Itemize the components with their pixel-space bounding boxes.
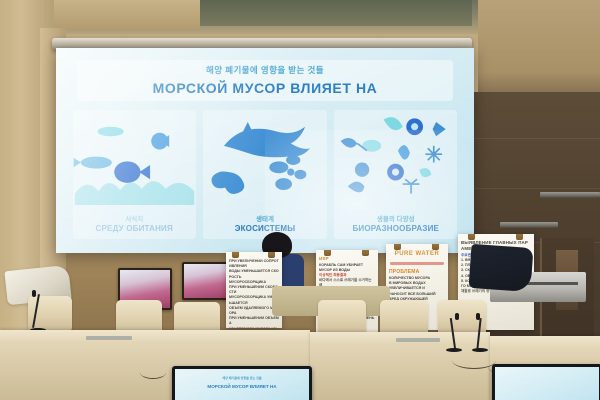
presentation-slide: 해양 폐기물에 영향을 받는 것들 МОРСКОЙ МУСОР ВЛИЯЕТ Н… [56, 48, 474, 253]
wall-monitor-right [182, 262, 232, 300]
slide-title-russian: МОРСКОЙ МУСОР ВЛИЯЕТ НА [56, 80, 474, 96]
ecosystems-illustration [203, 110, 326, 206]
poster-3-clip-left [394, 244, 401, 250]
desk-monitor[interactable]: 해양 폐기물에 영향을 받는 것들 МОРСКОЙ МУСОР ВЛИЯЕТ Н… [172, 366, 312, 400]
panel-label-habitat-ko: 서식지 [73, 216, 196, 224]
panel-label-biodiversity: 생물의 다양성 БИОРАЗНООБРАЗИЕ [334, 216, 457, 235]
wall-shelf-upper [540, 192, 600, 198]
panel-label-biodiversity-ru: БИОРАЗНООБРАЗИЕ [334, 224, 457, 234]
panel-label-ecosystems-ru: ЭКОСИСТЕМЫ [203, 224, 326, 234]
poster-3-heading-english: PURE WATER [386, 250, 448, 259]
poster-2-clip-right [362, 250, 369, 256]
desk-cable-slot-left [86, 336, 132, 340]
poster-1-line-1: ПРИ УВЕЛИЧЕНИИ СОПРОТИВЛЕНИЯ [226, 259, 282, 269]
panel-label-habitat: 서식지 СРЕДУ ОБИТАНИЯ [73, 216, 196, 235]
speaker-desk-far-right-top [490, 336, 600, 348]
habitat-illustration [73, 110, 196, 206]
wall-shelf-lower [500, 222, 558, 228]
poster-1-clip-right [268, 252, 275, 258]
projection-screen: 해양 폐기물에 영향을 받는 것들 МОРСКОЙ МУСОР ВЛИЯЕТ Н… [56, 48, 474, 253]
ceiling-panel [172, 0, 472, 26]
poster-4-clip-left [468, 234, 475, 240]
draped-jacket [469, 244, 534, 292]
microphone-head-4 [455, 313, 459, 320]
slide-title-korean: 해양 폐기물에 영향을 받는 것들 [56, 64, 474, 76]
desk-monitor-secondary[interactable] [492, 364, 600, 400]
slide-panel-habitat: 서식지 СРЕДУ ОБИТАНИЯ [73, 110, 196, 239]
poster-1-clip-left [232, 252, 239, 258]
speaker-desk-left-top [0, 330, 310, 342]
desk-monitor-title-russian: МОРСКОЙ МУСОР ВЛИЯЕТ НА [175, 384, 309, 389]
poster-3-problem-label: ПРОБЛЕМА [386, 269, 448, 276]
poster-3-clip-right [432, 244, 439, 250]
slide-panels: 서식지 СРЕДУ ОБИТАНИЯ [73, 110, 458, 239]
wall-monitor-right-screen [184, 264, 230, 298]
microphone-head-5 [476, 313, 480, 320]
desk-monitor-title-korean: 해양 폐기물에 영향을 받는 것들 [175, 376, 309, 380]
poster-4-clip-right [516, 234, 523, 240]
biodiversity-illustration [334, 110, 457, 206]
microphone-head-1 [32, 290, 36, 297]
chair-back-1[interactable] [116, 300, 162, 334]
poster-1-line-2: ВОДЫ УМЕНЬШАЕТСЯ СКОРОСТЬ [226, 269, 282, 279]
poster-3-divider [390, 262, 444, 265]
desk-monitor-screen: 해양 폐기물에 영향을 받는 것들 МОРСКОЙ МУСОР ВЛИЯЕТ Н… [175, 369, 309, 400]
microphone-cable-3 [140, 366, 166, 379]
slide-panel-ecosystems: 생태계 ЭКОСИСТЕМЫ [203, 110, 326, 239]
panel-label-ecosystems: 생태계 ЭКОСИСТЕМЫ [203, 216, 326, 235]
panel-label-biodiversity-ko: 생물의 다양성 [334, 216, 457, 224]
poster-2-heading: ИКР [316, 256, 378, 263]
conference-hall-scene: 해양 폐기물에 영향을 받는 것들 МОРСКОЙ МУСОР ВЛИЯЕТ Н… [0, 0, 600, 400]
slide-panel-biodiversity: 생물의 다양성 БИОРАЗНООБРАЗИЕ [334, 110, 457, 239]
chair-back-3[interactable] [318, 300, 366, 334]
panel-label-ecosystems-ko: 생태계 [203, 216, 326, 224]
poster-1-line-7: ПРИ УМЕНЬШЕНИИ ОБЪЕМА [226, 316, 282, 326]
poster-2-clip-left [324, 250, 331, 256]
panel-label-habitat-ru: СРЕДУ ОБИТАНИЯ [73, 224, 196, 234]
poster-1-line-8: УДАЛЯЕМОГО МУСОРА УМЕНЬШАЕТСЯ [226, 327, 282, 328]
desk-cable-slot-right [396, 338, 440, 342]
desk-monitor-secondary-screen [495, 367, 599, 400]
chair-back-4[interactable] [380, 300, 428, 334]
